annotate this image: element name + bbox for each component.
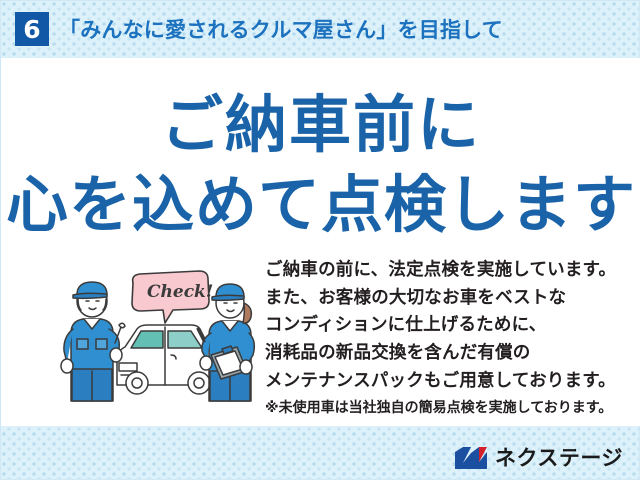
copy-line-4: 消耗品の新品交換を含んだ有償の [265, 340, 631, 368]
copy-line-3: コンディションに仕上げるために、 [265, 312, 631, 340]
poster-root: 6 「みんなに愛されるクルマ屋さん」を目指して ご納車前に 心を込めて点検します [0, 0, 640, 480]
section-number: 6 [23, 17, 40, 42]
mechanic-male [61, 282, 125, 401]
nextage-n-mark [454, 446, 488, 470]
copy-note: ※未使用車は当社独自の簡易点検を実施しております。 [265, 398, 631, 419]
body-copy: ご納車の前に、法定点検を実施しています。 また、お客様の大切なお車をベストな コ… [265, 257, 631, 419]
section-number-badge: 6 [15, 12, 49, 46]
headline: ご納車前に 心を込めて点検します [1, 94, 640, 236]
headline-line-1: ご納車前に [1, 94, 640, 156]
copy-line-5: メンテナンスパックもご用意しております。 [265, 368, 631, 396]
brand-name: ネクステージ [495, 448, 623, 469]
brand-logo: ネクステージ [454, 446, 623, 470]
content-panel: ご納車前に 心を込めて点検します [1, 58, 640, 426]
copy-line-1: ご納車の前に、法定点検を実施しています。 [265, 257, 631, 285]
header-bar: 6 「みんなに愛されるクルマ屋さん」を目指して [1, 1, 640, 58]
check-bubble-text: Check! [147, 282, 213, 302]
headline-line-2: 心を込めて点検します [1, 174, 640, 236]
mechanics-illustration: Check! [59, 263, 259, 403]
check-speech-bubble: Check! [132, 271, 213, 323]
header-title: 「みんなに愛されるクルマ屋さん」を目指して [59, 14, 503, 44]
copy-line-2: また、お客様の大切なお車をベストな [265, 285, 631, 313]
